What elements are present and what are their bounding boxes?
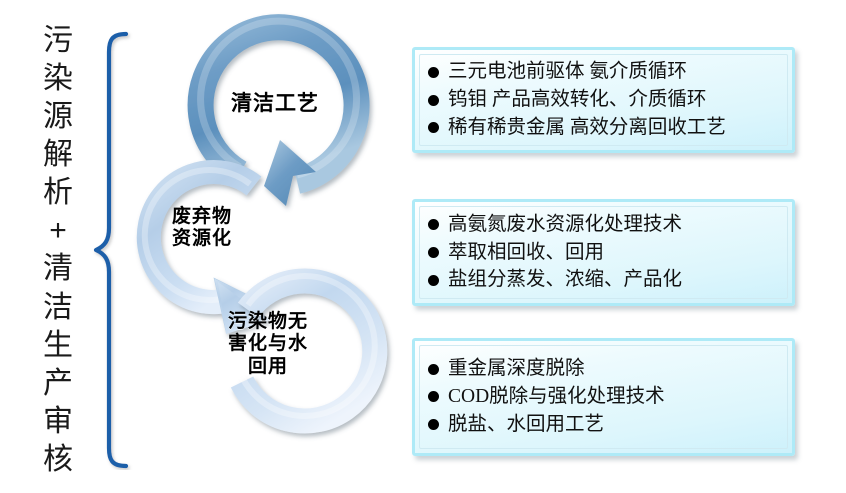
bullet-dot-icon xyxy=(428,364,439,375)
bullet-item: 萃取相回收、回用 xyxy=(428,240,781,266)
vertical-title-char: 染 xyxy=(43,64,73,95)
vertical-title-char: 核 xyxy=(43,445,73,476)
vertical-title: 污 染 源 解 析 + 清 洁 生 产 审 核 xyxy=(30,26,86,476)
diagram-canvas: 污 染 源 解 析 + 清 洁 生 产 审 核 xyxy=(0,0,846,493)
ring-label-line: 回用 xyxy=(228,356,308,378)
vertical-title-char: 洁 xyxy=(43,293,73,324)
ring-label-line: 清洁工艺 xyxy=(231,91,319,116)
bullet-dot-icon xyxy=(428,419,439,430)
bullet-text: 盐组分蒸发、浓缩、产品化 xyxy=(448,267,682,293)
bullet-dot-icon xyxy=(428,391,439,402)
vertical-title-char: 审 xyxy=(43,407,73,438)
bullet-text: 三元电池前驱体 氨介质循环 xyxy=(448,59,687,85)
bullet-dot-icon xyxy=(428,219,439,230)
bullet-text: 高氨氮废水资源化处理技术 xyxy=(448,212,682,238)
bullet-dot-icon xyxy=(428,247,439,258)
bullet-dot-icon xyxy=(428,275,439,286)
ring-label-line: 资源化 xyxy=(172,228,232,250)
bullet-text: 萃取相回收、回用 xyxy=(448,240,604,266)
vertical-title-char: 产 xyxy=(43,369,73,400)
vertical-title-char: 生 xyxy=(43,331,73,362)
bullet-item: 重金属深度脱除 xyxy=(428,356,781,382)
bullet-dot-icon xyxy=(428,67,439,78)
vertical-title-char: + xyxy=(49,216,67,247)
ring-label-clean-process: 清洁工艺 xyxy=(231,91,319,116)
info-box-inner: 高氨氮废水资源化处理技术 萃取相回收、回用 盐组分蒸发、浓缩、产品化 xyxy=(419,206,788,299)
info-box-clean-process: 三元电池前驱体 氨介质循环 钨钼 产品高效转化、介质循环 稀有稀贵金属 高效分离… xyxy=(412,47,795,153)
info-box-pollutant-water-reuse: 重金属深度脱除 COD脱除与强化处理技术 脱盐、水回用工艺 xyxy=(412,338,795,456)
bullet-item: 三元电池前驱体 氨介质循环 xyxy=(428,59,781,85)
vertical-title-char: 源 xyxy=(43,102,73,133)
info-box-inner: 三元电池前驱体 氨介质循环 钨钼 产品高效转化、介质循环 稀有稀贵金属 高效分离… xyxy=(419,54,788,146)
bullet-text: 脱盐、水回用工艺 xyxy=(448,412,604,438)
bullet-item: 盐组分蒸发、浓缩、产品化 xyxy=(428,267,781,293)
bullet-text: COD脱除与强化处理技术 xyxy=(448,384,665,410)
bullet-dot-icon xyxy=(428,122,439,133)
info-box-inner: 重金属深度脱除 COD脱除与强化处理技术 脱盐、水回用工艺 xyxy=(419,345,788,449)
vertical-title-char: 解 xyxy=(43,140,73,171)
bullet-item: 稀有稀贵金属 高效分离回收工艺 xyxy=(428,115,781,141)
info-box-waste-resource: 高氨氮废水资源化处理技术 萃取相回收、回用 盐组分蒸发、浓缩、产品化 xyxy=(412,199,795,306)
vertical-title-char: 污 xyxy=(43,26,73,57)
vertical-title-char: 析 xyxy=(43,178,73,209)
ring-label-pollutant-water-reuse: 污染物无 害化与水 回用 xyxy=(228,311,308,378)
bullet-text: 稀有稀贵金属 高效分离回收工艺 xyxy=(448,115,726,141)
bullet-item: COD脱除与强化处理技术 xyxy=(428,384,781,410)
ring-label-line: 废弃物 xyxy=(172,206,232,228)
bullet-item: 高氨氮废水资源化处理技术 xyxy=(428,212,781,238)
bullet-item: 脱盐、水回用工艺 xyxy=(428,412,781,438)
ring-label-line: 害化与水 xyxy=(228,333,308,355)
bullet-text: 重金属深度脱除 xyxy=(448,356,585,382)
bullet-dot-icon xyxy=(428,95,439,106)
ring-label-line: 污染物无 xyxy=(228,311,308,333)
bullet-text: 钨钼 产品高效转化、介质循环 xyxy=(448,87,706,113)
vertical-title-char: 清 xyxy=(43,254,73,285)
bullet-item: 钨钼 产品高效转化、介质循环 xyxy=(428,87,781,113)
ring-label-waste-resource: 废弃物 资源化 xyxy=(172,206,232,251)
